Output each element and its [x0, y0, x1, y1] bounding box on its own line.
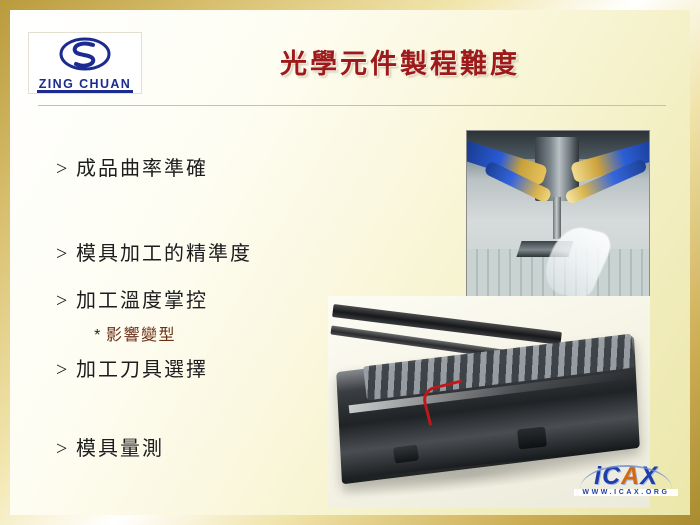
mold-clip-secondary: [393, 444, 419, 463]
page-title: 光學元件製程難度: [160, 42, 640, 81]
company-logo-name: ZING CHUAN: [29, 77, 141, 91]
bullet-marker: >: [56, 243, 76, 266]
title-divider: [38, 105, 666, 106]
bullet-marker: >: [56, 158, 76, 181]
icax-url: WWW.ICAX.ORG: [574, 489, 678, 496]
logo-underline: [37, 90, 133, 93]
bullet-text: 模具量測: [76, 438, 164, 460]
bullet-text: 成品曲率準確: [76, 158, 208, 180]
bullet-text: 加工刀具選擇: [76, 359, 208, 381]
slide-frame: ZING CHUAN 光學元件製程難度 >成品曲率準確 >模具加工的精準度 >加…: [0, 0, 700, 525]
cnc-machining-photo: [466, 130, 650, 304]
bullet-marker: >: [56, 438, 76, 461]
icax-watermark: iCAX WWW.ICAX.ORG: [574, 463, 678, 507]
sub-bullet-text: 影響變型: [106, 327, 176, 344]
list-item: >模具加工的精準度: [56, 237, 376, 266]
slide-canvas: ZING CHUAN 光學元件製程難度 >成品曲率準確 >模具加工的精準度 >加…: [10, 10, 690, 515]
sub-bullet-marker: *: [90, 327, 106, 345]
bullet-text: 模具加工的精準度: [76, 243, 252, 265]
list-item: >成品曲率準確: [56, 152, 376, 181]
bullet-marker: >: [56, 359, 76, 382]
zing-chuan-s-monogram-icon: [59, 37, 111, 71]
bullet-marker: >: [56, 290, 76, 313]
company-logo: ZING CHUAN: [28, 32, 142, 94]
mold-clip: [517, 427, 547, 450]
cutting-tool: [553, 197, 561, 239]
bullet-text: 加工溫度掌控: [76, 290, 208, 312]
